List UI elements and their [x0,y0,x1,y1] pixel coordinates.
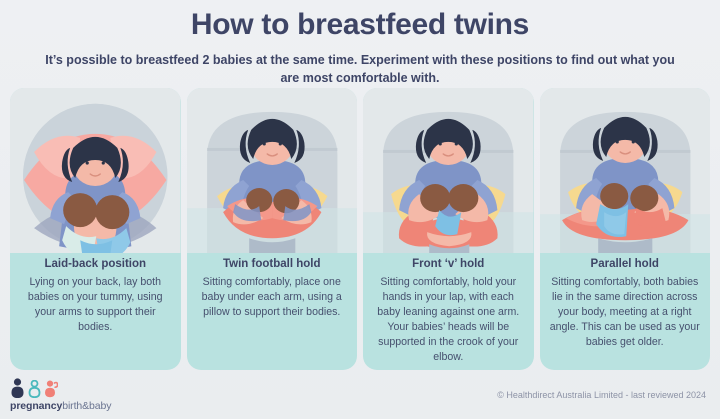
birth-figure-icon [28,380,41,398]
illustration-front-v-hold [363,88,534,253]
card-parallel-hold: Parallel hold Sitting comfortably, both … [540,88,711,370]
card-title: Laid-back position [19,257,172,272]
brand-logo[interactable]: pregnancybirth&baby [10,378,111,412]
caption-twin-football: Twin football hold Sitting comfortably, … [187,253,358,328]
brand-wordmark: pregnancybirth&baby [10,400,111,412]
logo-figures [10,378,111,398]
illustration-twin-football [187,88,358,253]
baby-figure-icon [44,380,58,398]
card-body: Sitting comfortably, both babies lie in … [549,275,702,350]
footer: pregnancybirth&baby © Healthdirect Austr… [0,370,720,419]
pregnant-figure-icon [10,378,25,398]
infographic-root: How to breastfeed twins It’s possible to… [0,0,720,419]
card-laid-back: Laid-back position Lying on your back, l… [10,88,181,370]
page-subtitle: It’s possible to breastfeed 2 babies at … [45,51,675,89]
caption-laid-back: Laid-back position Lying on your back, l… [10,253,181,343]
card-body: Sitting comfortably, place one baby unde… [196,275,349,320]
copyright-text: © Healthdirect Australia Limited - last … [497,390,706,400]
card-front-v-hold: Front ‘v’ hold Sitting comfortably, hold… [363,88,534,370]
twin-football-artwork [187,88,358,253]
card-title: Parallel hold [549,257,702,272]
caption-parallel-hold: Parallel hold Sitting comfortably, both … [540,253,711,358]
illustration-laid-back [10,88,181,253]
caption-front-v-hold: Front ‘v’ hold Sitting comfortably, hold… [363,253,534,370]
card-body: Lying on your back, lay both babies on y… [19,275,172,335]
brand-name-bold: pregnancy [10,400,62,412]
page-title: How to breastfeed twins [0,8,720,43]
front-v-artwork [363,88,534,253]
header: How to breastfeed twins It’s possible to… [0,0,720,88]
card-body: Sitting comfortably, hold your hands in … [372,275,525,365]
illustration-parallel-hold [540,88,711,253]
card-title: Twin football hold [196,257,349,272]
card-twin-football: Twin football hold Sitting comfortably, … [187,88,358,370]
brand-name-light: birth&baby [62,400,111,412]
laid-back-artwork [10,88,181,253]
card-title: Front ‘v’ hold [372,257,525,272]
cards-row: Laid-back position Lying on your back, l… [10,88,710,370]
parallel-hold-artwork [540,88,711,253]
